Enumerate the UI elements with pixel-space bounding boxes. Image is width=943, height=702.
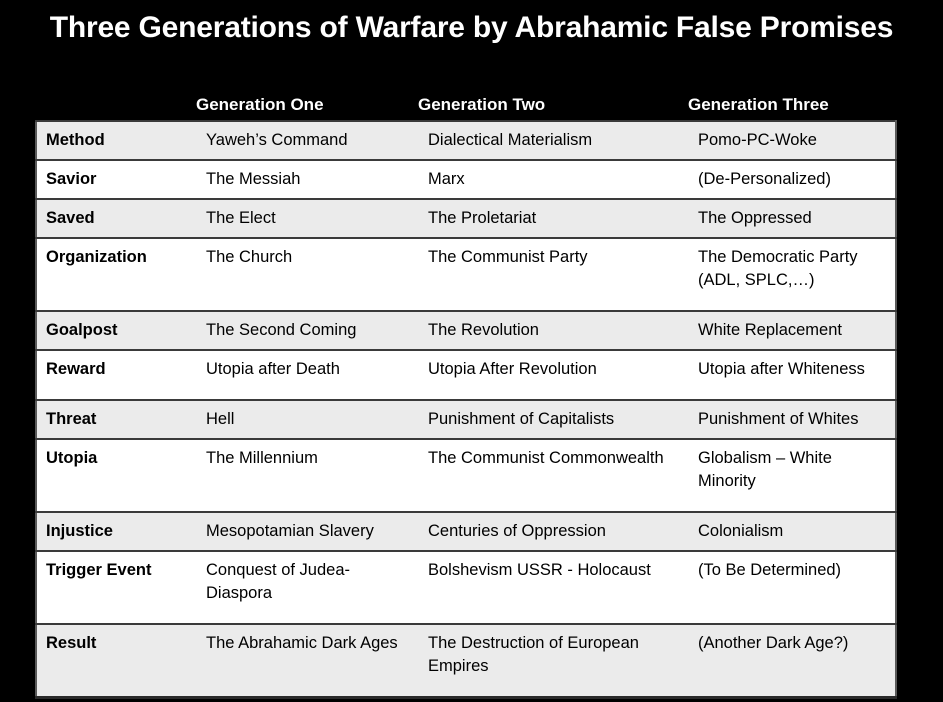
page-title: Three Generations of Warfare by Abrahami… (0, 8, 943, 48)
cell-generation-three: The Oppressed (689, 199, 896, 238)
cell-generation-one: Yaweh’s Command (197, 121, 419, 160)
column-header-generation-one: Generation One (196, 93, 324, 117)
cell-generation-two: Centuries of Oppression (419, 512, 689, 551)
table-row: MethodYaweh’s CommandDialectical Materia… (36, 121, 896, 160)
cell-generation-one: The Church (197, 238, 419, 311)
row-label-cell: Utopia (36, 439, 197, 512)
cell-generation-three: Utopia after Whiteness (689, 350, 896, 400)
table-row: UtopiaThe MillenniumThe Communist Common… (36, 439, 896, 512)
cell-generation-three: (To Be Determined) (689, 551, 896, 624)
cell-generation-one: Conquest of Judea-Diaspora (197, 551, 419, 624)
cell-generation-one: The Abrahamic Dark Ages (197, 624, 419, 698)
row-label-cell: Organization (36, 238, 197, 311)
table-row: SavedThe ElectThe ProletariatThe Oppress… (36, 199, 896, 238)
cell-generation-one: The Millennium (197, 439, 419, 512)
cell-generation-one: The Messiah (197, 160, 419, 199)
cell-generation-one: Hell (197, 400, 419, 439)
cell-generation-three: White Replacement (689, 311, 896, 350)
cell-generation-one: Mesopotamian Slavery (197, 512, 419, 551)
cell-generation-three: Punishment of Whites (689, 400, 896, 439)
column-header-generation-two: Generation Two (418, 93, 545, 117)
column-header-band: Generation One Generation Two Generation… (35, 93, 895, 120)
cell-generation-three: Colonialism (689, 512, 896, 551)
cell-generation-two: Marx (419, 160, 689, 199)
cell-generation-three: The Democratic Party (ADL, SPLC,…) (689, 238, 896, 311)
row-label-cell: Goalpost (36, 311, 197, 350)
table-row: ThreatHellPunishment of CapitalistsPunis… (36, 400, 896, 439)
slide-canvas: Three Generations of Warfare by Abrahami… (0, 0, 943, 702)
cell-generation-three: Globalism – White Minority (689, 439, 896, 512)
table-row: OrganizationThe ChurchThe Communist Part… (36, 238, 896, 311)
row-label-cell: Savior (36, 160, 197, 199)
cell-generation-two: The Revolution (419, 311, 689, 350)
cell-generation-two: Dialectical Materialism (419, 121, 689, 160)
table-row: Trigger EventConquest of Judea-DiasporaB… (36, 551, 896, 624)
row-label-cell: Trigger Event (36, 551, 197, 624)
cell-generation-two: Utopia After Revolution (419, 350, 689, 400)
cell-generation-one: The Second Coming (197, 311, 419, 350)
cell-generation-two: Punishment of Capitalists (419, 400, 689, 439)
table-row: SaviorThe MessiahMarx(De-Personalized) (36, 160, 896, 199)
table-row: InjusticeMesopotamian SlaveryCenturies o… (36, 512, 896, 551)
cell-generation-three: Pomo-PC-Woke (689, 121, 896, 160)
row-label-cell: Method (36, 121, 197, 160)
table-row: GoalpostThe Second ComingThe RevolutionW… (36, 311, 896, 350)
column-header-generation-three: Generation Three (688, 93, 829, 117)
table-row: ResultThe Abrahamic Dark AgesThe Destruc… (36, 624, 896, 698)
cell-generation-two: The Communist Party (419, 238, 689, 311)
row-label-cell: Saved (36, 199, 197, 238)
cell-generation-two: The Communist Commonwealth (419, 439, 689, 512)
table-row: RewardUtopia after DeathUtopia After Rev… (36, 350, 896, 400)
cell-generation-two: The Proletariat (419, 199, 689, 238)
comparison-table: MethodYaweh’s CommandDialectical Materia… (35, 120, 897, 699)
row-label-cell: Result (36, 624, 197, 698)
cell-generation-one: The Elect (197, 199, 419, 238)
cell-generation-three: (De-Personalized) (689, 160, 896, 199)
cell-generation-two: The Destruction of European Empires (419, 624, 689, 698)
cell-generation-two: Bolshevism USSR - Holocaust (419, 551, 689, 624)
cell-generation-one: Utopia after Death (197, 350, 419, 400)
cell-generation-three: (Another Dark Age?) (689, 624, 896, 698)
row-label-cell: Threat (36, 400, 197, 439)
row-label-cell: Injustice (36, 512, 197, 551)
comparison-table-body: MethodYaweh’s CommandDialectical Materia… (36, 121, 896, 698)
row-label-cell: Reward (36, 350, 197, 400)
